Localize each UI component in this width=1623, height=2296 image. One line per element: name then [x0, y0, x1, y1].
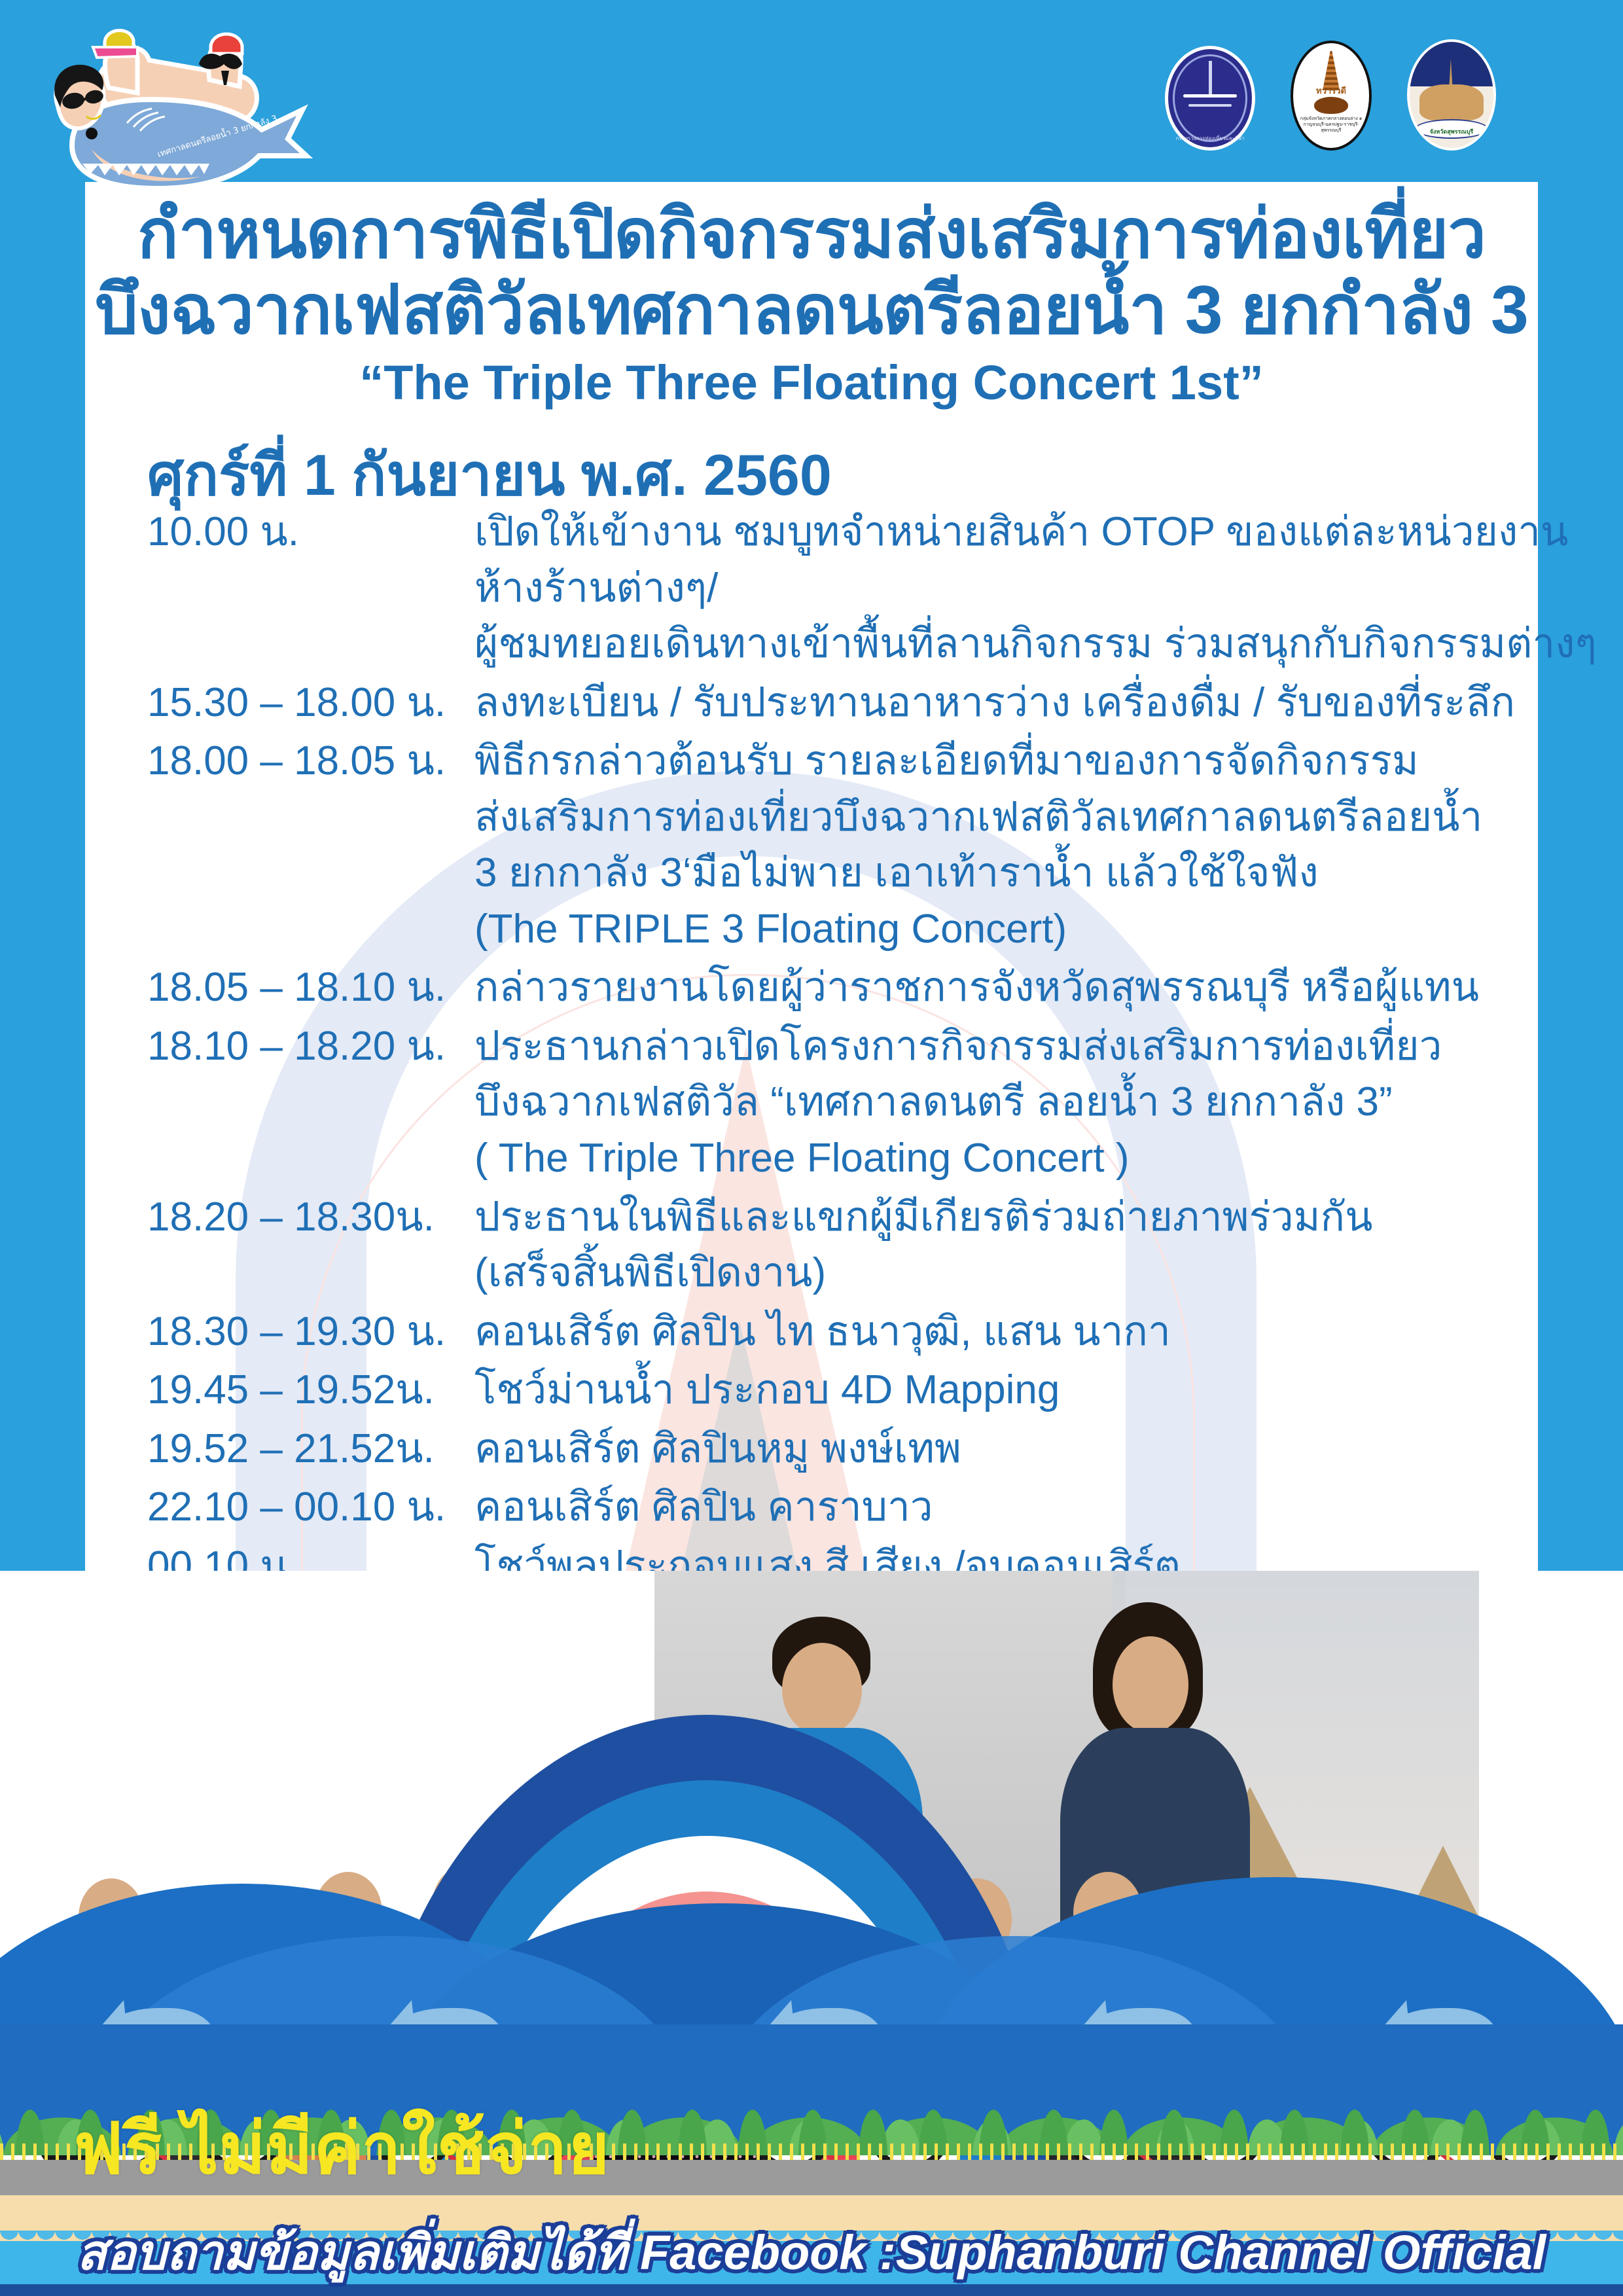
schedule-description: ประธานกล่าวเปิดโครงการกิจกรรมส่งเสริมการ…: [474, 1018, 1442, 1187]
schedule-description-line: เปิดให้เข้างาน ชมบูทจำหน่ายสินค้า OTOP ข…: [474, 504, 1597, 560]
schedule-description-line: คอนเสิร์ต ศิลปิน ไท ธนาวุฒิ, แสน นากา: [474, 1304, 1171, 1360]
schedule-description: กล่าวรายงานโดยผู้ว่าราชการจังหวัดสุพรรณบ…: [474, 960, 1479, 1016]
schedule-time: 15.30 – 18.00 น.: [147, 675, 474, 731]
schedule-description: โชว์ม่านน้ำ ประกอบ 4D Mapping: [474, 1362, 1060, 1418]
shark-mascot-icon: เทศกาลดนตรีลอยน้ำ 3 ยกกำลัง 3: [46, 8, 321, 204]
schedule-description-line: ( The Triple Three Floating Concert ): [474, 1130, 1442, 1187]
schedule-description-line: (The TRIPLE 3 Floating Concert): [474, 901, 1482, 958]
schedule-description-line: พิธีกรกล่าวต้อนรับ รายละเอียดที่มาของการ…: [474, 733, 1482, 789]
schedule-description-line: ห้างร้านต่างๆ/: [474, 560, 1597, 617]
free-admission-banner: ฟรี ไม่มีค่าใช้จ่าย: [73, 2092, 610, 2204]
seal-subtitle: กลุ่มจังหวัดภาคกลางตอนล่าง ๑ กาญจนบุรี-น…: [1296, 117, 1366, 134]
schedule-description-line: ประธานในพิธีและแขกผู้มีเกียรติร่วมถ่ายภา…: [474, 1189, 1372, 1246]
schedule-description-line: กล่าวรายงานโดยผู้ว่าราชการจังหวัดสุพรรณบ…: [474, 960, 1479, 1016]
schedule-description-line: ส่งเสริมการท่องเที่ยวบึงฉวากเฟสติวัลเทศก…: [474, 789, 1482, 846]
schedule-row: 18.00 – 18.05 น.พิธีกรกล่าวต้อนรับ รายละ…: [147, 733, 1535, 957]
schedule-time: 18.30 – 19.30 น.: [147, 1304, 474, 1360]
poster-root: เทศกาลดนตรีลอยน้ำ 3 ยกกำลัง 3 กระทรวงการ…: [0, 0, 1623, 2296]
schedule-row: 19.45 – 19.52น.โชว์ม่านน้ำ ประกอบ 4D Map…: [147, 1362, 1535, 1418]
contact-footer: สอบถามข้อมูลเพิ่มเติมได้ที่ Facebook :Su…: [0, 2214, 1623, 2291]
schedule-time: 18.05 – 18.10 น.: [147, 960, 474, 1016]
seal-caption: กระทรวงการท่องเที่ยวและกีฬา: [1168, 134, 1252, 143]
schedule-row: 15.30 – 18.00 น.ลงทะเบียน / รับประทานอาห…: [147, 675, 1535, 731]
schedule-description: ประธานในพิธีและแขกผู้มีเกียรติร่วมถ่ายภา…: [474, 1189, 1372, 1301]
schedule-time: 19.52 – 21.52น.: [147, 1421, 474, 1477]
schedule-time: 18.00 – 18.05 น.: [147, 733, 474, 789]
schedule-description-line: ประธานกล่าวเปิดโครงการกิจกรรมส่งเสริมการ…: [474, 1018, 1442, 1075]
schedule-list: 10.00 น.เปิดให้เข้างาน ชมบูทจำหน่ายสินค้…: [147, 504, 1535, 1596]
schedule-description-line: โชว์ม่านน้ำ ประกอบ 4D Mapping: [474, 1362, 1060, 1418]
schedule-row: 19.52 – 21.52น.คอนเสิร์ต ศิลปินหมู พงษ์เ…: [147, 1421, 1535, 1477]
poster-title-block: กำหนดการพิธีเปิดกิจกรรมส่งเสริมการท่องเท…: [85, 196, 1538, 412]
schedule-row: 18.30 – 19.30 น.คอนเสิร์ต ศิลปิน ไท ธนาว…: [147, 1304, 1535, 1360]
schedule-description: คอนเสิร์ต ศิลปิน คาราบาว: [474, 1479, 933, 1535]
schedule-description-line: ผู้ชมทยอยเดินทางเข้าพื้นที่ลานกิจกรรม ร่…: [474, 616, 1597, 672]
schedule-description: พิธีกรกล่าวต้อนรับ รายละเอียดที่มาของการ…: [474, 733, 1482, 957]
schedule-description-line: คอนเสิร์ต ศิลปิน คาราบาว: [474, 1479, 933, 1535]
schedule-description: คอนเสิร์ต ศิลปินหมู พงษ์เทพ: [474, 1421, 961, 1477]
schedule-description-line: 3 ยกกาลัง 3‘มือไม่พาย เอาเท้าราน้ำ แล้วใ…: [474, 845, 1482, 901]
schedule-time: 18.20 – 18.30น.: [147, 1189, 474, 1246]
schedule-time: 18.10 – 18.20 น.: [147, 1018, 474, 1075]
suphanburi-province-seal: จังหวัดสุพรรณบุรี: [1407, 39, 1496, 151]
schedule-description-line: (เสร็จสิ้นพิธีเปิดงาน): [474, 1245, 1372, 1301]
seal-title: ทวารวดี: [1293, 84, 1369, 98]
schedule-time: 10.00 น.: [147, 504, 474, 560]
schedule-description: เปิดให้เข้างาน ชมบูทจำหน่ายสินค้า OTOP ข…: [474, 504, 1597, 672]
performer-head: [1113, 1636, 1188, 1733]
schedule-row: 10.00 น.เปิดให้เข้างาน ชมบูทจำหน่ายสินค้…: [147, 504, 1535, 672]
schedule-row: 22.10 – 00.10 น.คอนเสิร์ต ศิลปิน คาราบาว: [147, 1479, 1535, 1535]
page-title-line-2: บึงฉวากเฟสติวัลเทศกาลดนตรีลอยน้ำ 3 ยกกำล…: [85, 272, 1538, 348]
schedule-description: ลงทะเบียน / รับประทานอาหารว่าง เครื่องดื…: [474, 675, 1515, 731]
schedule-row: 18.05 – 18.10 น.กล่าวรายงานโดยผู้ว่าราชก…: [147, 960, 1535, 1016]
schedule-time: 19.45 – 19.52น.: [147, 1362, 474, 1418]
schedule-time: 22.10 – 00.10 น.: [147, 1479, 474, 1535]
schedule-description-line: ลงทะเบียน / รับประทานอาหารว่าง เครื่องดื…: [474, 675, 1515, 731]
schedule-row: 18.10 – 18.20 น.ประธานกล่าวเปิดโครงการกิ…: [147, 1018, 1535, 1187]
schedule-description: คอนเสิร์ต ศิลปิน ไท ธนาวุฒิ, แสน นากา: [474, 1304, 1171, 1360]
page-title-line-1: กำหนดการพิธีเปิดกิจกรรมส่งเสริมการท่องเท…: [85, 196, 1538, 272]
schedule-row: 18.20 – 18.30น.ประธานในพิธีและแขกผู้มีเก…: [147, 1189, 1535, 1301]
schedule-description-line: คอนเสิร์ต ศิลปินหมู พงษ์เทพ: [474, 1421, 961, 1477]
page-title-english: “The Triple Three Floating Concert 1st”: [85, 354, 1538, 412]
schedule-description-line: บึงฉวากเฟสติวัล “เทศกาลดนตรี ลอยน้ำ 3 ยก…: [474, 1074, 1442, 1130]
ministry-of-tourism-and-sports-seal: กระทรวงการท่องเที่ยวและกีฬา: [1165, 46, 1255, 151]
dvaravati-provincial-cluster-seal: ทวารวดี กลุ่มจังหวัดภาคกลางตอนล่าง ๑ กาญ…: [1291, 41, 1372, 151]
seal-caption: จังหวัดสุพรรณบุรี: [1410, 127, 1493, 136]
